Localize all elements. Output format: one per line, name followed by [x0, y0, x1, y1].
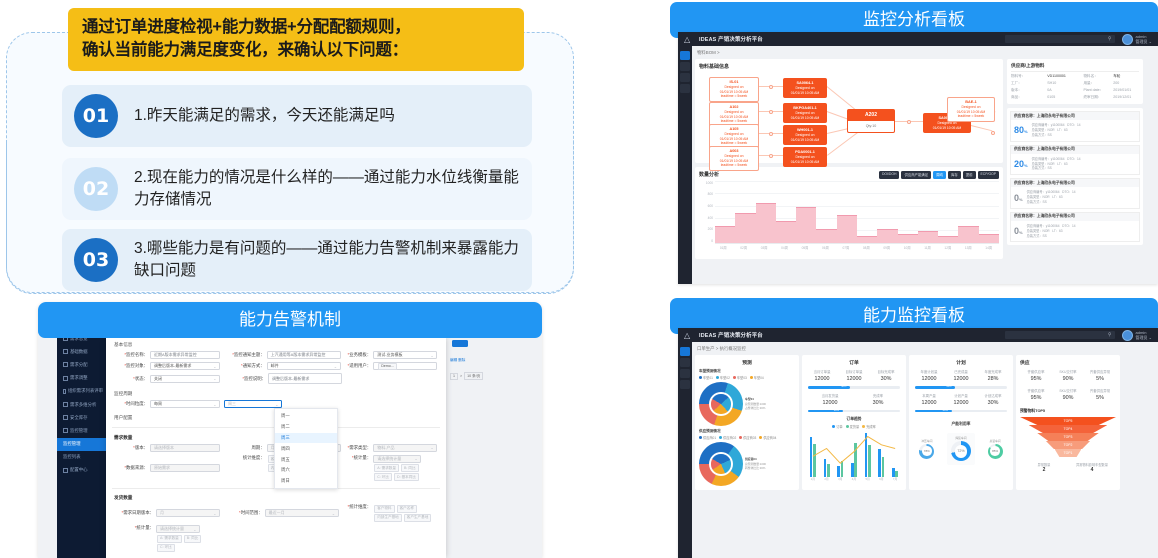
field-status[interactable]: *状态： 关闭⌄: [112, 373, 224, 384]
dropdown-option-3[interactable]: 周四: [275, 443, 337, 454]
chip-advance[interactable]: 提前: [963, 171, 976, 179]
supplier-row[interactable]: 供应商名称：上海欣永电子有限公司 0% 供应商编号：y1100064 DTO：1…: [1010, 178, 1140, 209]
bg-primary-button[interactable]: [452, 340, 468, 347]
chevron-down-icon: ⌄: [213, 364, 216, 369]
supplier-percent: 20%: [1014, 159, 1028, 169]
plan-kpi-row-1: 年度计划量12000 已完成量12000 年度完成率28%: [913, 369, 1009, 382]
notify-method-select[interactable]: 邮件⌄: [267, 362, 341, 370]
step-segment: [857, 236, 877, 243]
quantity-analysis-panel: 数量分析 DOI/DOH 供应商产能满足 周均 库存 提前 ECP/GOP: [695, 167, 1003, 259]
order-trend-chart[interactable]: [806, 431, 902, 477]
app-name: IDEAS 产销决策分析平台: [699, 35, 763, 43]
form-row: *监控名称： 近期A版本需求异常监控 *监控通知主题： 上汽通用等A版本需求异常…: [106, 351, 446, 362]
list-badge-03: 03: [74, 238, 118, 282]
step-segment: [756, 203, 776, 242]
sidebar-item-2[interactable]: 需求分配: [57, 358, 106, 371]
field-notify-subject[interactable]: *监控通知主题： 上汽通用等A版本需求异常监控: [223, 351, 342, 359]
gauge-ring-0: 78%: [919, 444, 934, 459]
dropdown-option-6[interactable]: 周日: [275, 476, 337, 487]
supplier-name: 供应商名称：上海欣永电子有限公司: [1011, 179, 1139, 187]
supplier-percent: 80%: [1014, 125, 1028, 135]
field-notify-method[interactable]: *通知方式： 邮件⌄: [223, 362, 342, 370]
field-monitor-desc[interactable]: *监控说明： 调整后版本-最新需求: [224, 373, 344, 384]
supplier-name: 供应商名称：上海欣永电子有限公司: [1011, 112, 1139, 120]
sidebar-icon-box[interactable]: [680, 369, 690, 378]
xaxis-tick: 07周: [842, 245, 849, 250]
sidebar-item-9[interactable]: 监控列表: [57, 451, 106, 464]
form-sidebar[interactable]: 需求总览 基础数据 需求分配 需求调整 组织需求列表评审 需求多维分析 安全库存…: [57, 332, 106, 558]
dropdown-option-1[interactable]: 周二: [275, 422, 337, 433]
list-badge-01: 01: [74, 94, 118, 138]
flow-node-left-outer-0[interactable]: IS-01 Designed on 01/01/19 10:05 AM lead…: [709, 77, 759, 102]
section-ship-qty: 发货数量: [106, 491, 446, 504]
gauge-group: 冲压车间 78% 焊装车间 72% 总装车间 85%: [913, 433, 1009, 465]
xaxis-tick: 6月: [879, 477, 883, 481]
quantity-chart-xaxis: 01周02周03周04周05周06周07周08周09周10周11周12周13周1…: [713, 245, 999, 250]
monitor-config-modal: 基本信息 *监控名称： 近期A版本需求异常监控 *监控通知主题： 上汽通用等A版…: [106, 338, 446, 558]
orders-kpi-row-2: 当月发货量12000 完成率30%: [806, 393, 902, 406]
step-segment: [877, 229, 897, 243]
search-input[interactable]: ⚲: [1005, 35, 1115, 43]
form-background-page: 编辑 删除 1 > 10 条/页: [446, 332, 542, 558]
pagination[interactable]: 1 > 10 条/页: [450, 372, 483, 380]
xaxis-tick: 5月: [865, 477, 869, 481]
supplier-name: 供应商名称：上海欣永电子有限公司: [1011, 146, 1139, 154]
flow-center-qty: Qty:10: [848, 121, 894, 132]
plan-progress-2: 40%: [915, 410, 1007, 413]
field-weekday[interactable]: 周三⌄: [224, 400, 304, 408]
search-icon: ⚲: [1108, 36, 1112, 42]
list-item[interactable]: 01 1.昨天能满足的需求，今天还能满足吗: [62, 85, 532, 147]
avatar[interactable]: [1122, 330, 1133, 341]
chip-supplier-capacity[interactable]: 供应商产能满足: [901, 171, 931, 179]
headline-banner: 通过订单进度检视+能力数据+分配配额规则， 确认当前能力满足度变化，来确认以下问…: [68, 8, 524, 71]
xaxis-tick: 4月: [852, 477, 856, 481]
user-menu[interactable]: admin管理员 ⌄: [1136, 330, 1152, 340]
gauge-title: 产能利用率: [913, 422, 1009, 427]
list-badge-02: 02: [74, 167, 118, 211]
sidebar-item-1[interactable]: 基础数据: [57, 345, 106, 358]
xaxis-tick: 2月: [824, 477, 828, 481]
sidebar-item-6[interactable]: 安全库存: [57, 411, 106, 424]
xaxis-tick: 7月: [893, 477, 897, 481]
bar-chart-xaxis: 1月2月3月4月5月6月7月: [806, 477, 902, 481]
form-row: *需求日期版本： 月⌄ *时间范围： 最近一月⌄ *统计维度：: [106, 504, 446, 525]
flow-panel-title: 物料基础信息: [699, 63, 999, 70]
sidebar-item-7[interactable]: 监控管理: [57, 424, 106, 437]
app-body: 物料BOM > 物料基础信息: [678, 46, 1158, 284]
field-demand-date-version[interactable]: *需求日期版本： 月⌄: [112, 504, 223, 522]
supplier-list-card: 供应商名称：上海欣永电子有限公司 80% 供应商编号：y1100064 DTO：…: [1007, 108, 1143, 245]
supply-column: 供应 齐套供应率95% SKU交付率90% 齐套供应异常5% 齐套供应率95% …: [1016, 355, 1120, 490]
app-header: △ IDEAS 产销决策分析平台 ⚲ admin管理员 ⌄: [678, 328, 1158, 342]
quantity-analysis-title: 数量分析: [699, 171, 719, 178]
funnel-segment[interactable]: TOP1: [1055, 449, 1082, 457]
form-row: *监控对象： 调整后版本-最新需求⌄ *通知方式： 邮件⌄ *适用用户：: [106, 362, 446, 373]
app-main: 物料BOM > 物料基础信息: [692, 46, 1158, 284]
xaxis-tick: 06周: [822, 245, 829, 250]
headline-line-2: 确认当前能力满足度变化，来确认以下问题：: [82, 39, 510, 62]
ship-stat-qty-select[interactable]: 请选择统计量⌄: [156, 525, 200, 533]
supplier-row[interactable]: 供应商名称：上海欣永电子有限公司 20% 供应商编号：y1100064 DTO：…: [1010, 145, 1140, 176]
step-segment: [715, 226, 735, 243]
bar-chart-legend: 订单 发货量 完成率: [806, 424, 902, 429]
orders-column: 订单 当月订单量12000 目标订单量12000 目标完成率30% 46% 当月…: [802, 355, 906, 490]
list-item-text: 1.昨天能满足的需求，今天还能满足吗: [134, 105, 405, 127]
plan-head: 计划: [913, 359, 1009, 366]
sidebar-item-5[interactable]: 需求多维分析: [57, 398, 106, 411]
bar-chart-title: 订单趋势: [806, 417, 902, 422]
supply-footer: 异常数量 2 异常物料影响车型数量 4: [1020, 462, 1116, 473]
data-source-input[interactable]: 原始需求: [150, 464, 220, 472]
xaxis-tick: 08周: [863, 245, 870, 250]
xaxis-tick: 3月: [838, 477, 842, 481]
app-logo-icon: △: [684, 331, 693, 340]
chevron-down-icon: ⌄: [213, 402, 216, 407]
chevron-down-icon: ⌄: [430, 353, 433, 358]
weekday-select[interactable]: 周三⌄: [224, 400, 282, 408]
step-segment: [958, 226, 978, 243]
step-segment: [816, 229, 836, 243]
supplier-row[interactable]: 供应商名称：上海欣永电子有限公司 80% 供应商编号：y1100064 DTO：…: [1010, 111, 1140, 142]
section-basic: 基本信息: [106, 338, 446, 351]
supply-kpi-row-1: 齐套供应率95% SKU交付率90% 齐套供应异常5%: [1020, 369, 1116, 382]
funnel-segment[interactable]: TOP2: [1046, 441, 1090, 449]
xaxis-tick: 13周: [965, 245, 972, 250]
xaxis-tick: 10周: [904, 245, 911, 250]
field-ship-stat-qty[interactable]: *统计量： 请选择统计量⌄ A: 需求数量B: 同比 C: 环比: [122, 525, 234, 552]
supplier-meta: 供应商编号：y1100064 DTO：14 总装类型：NOR LT：63 总装方…: [1027, 224, 1076, 238]
chip-doi-doh[interactable]: DOI/DOH: [879, 171, 900, 179]
xaxis-tick: 12周: [944, 245, 951, 250]
field-data-source[interactable]: *数据来源： 原始需求: [112, 455, 223, 482]
supplier-percent: 0%: [1014, 193, 1023, 203]
field-demand-type[interactable]: *需求类型： 物料-产品⌄: [341, 444, 440, 452]
version-input[interactable]: 请选择版本: [150, 444, 220, 452]
trend-line: [806, 431, 902, 477]
avatar[interactable]: [1122, 34, 1133, 45]
alarm-card-title: 能力告警机制: [38, 302, 542, 338]
chip-ecp-gop[interactable]: ECP/GOP: [978, 171, 999, 179]
sidebar-icon-doc[interactable]: [680, 62, 690, 71]
xaxis-tick: 03周: [761, 245, 768, 250]
chevron-down-icon: ⌄: [275, 402, 278, 407]
search-input[interactable]: ⚲: [1005, 331, 1115, 339]
chevron-down-icon: ⌄: [334, 364, 337, 369]
bom-flow-diagram: IS-01 Designed on 01/01/19 10:05 AM lead…: [699, 73, 999, 169]
field-version[interactable]: *版本： 请选择版本: [112, 444, 223, 452]
flow-center-code: A202: [848, 110, 894, 121]
gauge-item-1[interactable]: 焊装车间 72%: [947, 433, 975, 465]
xaxis-tick: 09周: [883, 245, 890, 250]
xaxis-tick: 01周: [720, 245, 727, 250]
funnel-title: 预警物料TOP5: [1020, 409, 1116, 414]
gauge-ring-2: 85%: [988, 444, 1003, 459]
app-sidebar[interactable]: [678, 46, 692, 284]
xaxis-tick: 11周: [924, 245, 931, 250]
flow-node-left-inner-2[interactable]: WH001-1 Designed on 01/01/19 10:05 AM: [783, 125, 827, 145]
left-column: 通过订单进度检视+能力数据+分配配额规则， 确认当前能力满足度变化，来确认以下问…: [0, 0, 580, 558]
time-range-select[interactable]: 最近一月⌄: [265, 509, 339, 517]
demand-date-version-select[interactable]: 月⌄: [156, 509, 220, 517]
sidebar-icon-box[interactable]: [680, 73, 690, 82]
app-sidebar[interactable]: [678, 342, 692, 558]
stat-qty-select[interactable]: 请选择统计量⌄: [373, 455, 421, 463]
sidebar-item-10[interactable]: 配置中心: [57, 464, 106, 477]
user-menu[interactable]: admin管理员 ⌄: [1136, 34, 1152, 44]
monitor-name-input[interactable]: 近期A版本需求异常监控: [150, 351, 220, 359]
chart-filter-chips[interactable]: DOI/DOH 供应商产能满足 周均 库存 提前 ECP/GOP: [879, 171, 999, 179]
flow-node-right-outer[interactable]: BAE-1 Designed on 01/01/19 10:05 AM lead…: [947, 97, 995, 122]
supplier-meta: 供应商编号：y1100064 DTO：14 总装类型：NOR LT：63 总装方…: [1027, 190, 1076, 204]
list-item[interactable]: 02 2.现在能力的情况是什么样的——通过能力水位线衡量能力存储情况: [62, 158, 532, 220]
notify-subject-input[interactable]: 上汽通用等A版本需求异常监控: [267, 351, 341, 359]
plan-progress-1: 44%: [915, 386, 1007, 389]
step-segment: [898, 234, 918, 243]
app-logo-icon: △: [684, 35, 693, 44]
apply-user-input[interactable]: Demo...: [373, 362, 437, 370]
forecast-head: 预测: [699, 359, 795, 366]
flow-node-left-outer-3[interactable]: A003 Designed on 01/01/19 10:05 AM leadt…: [709, 146, 759, 171]
breadcrumb: 口单生产 > 执行概况监控: [695, 345, 1155, 355]
app-header: △ IDEAS 产销决策分析平台 ⚲ admin管理员 ⌄: [678, 32, 1158, 46]
sidebar-icon-doc[interactable]: [680, 358, 690, 367]
gauge-value: 78%: [922, 446, 932, 456]
gauge-value: 72%: [955, 445, 968, 458]
monitor-analysis-card: 监控分析看板 △ IDEAS 产销决策分析平台 ⚲ admin管理员 ⌄ 物料B…: [670, 2, 1158, 284]
donut2-tooltip: 供应商04 总预测数量:1000 转整体比比:30%: [745, 457, 766, 470]
sidebar-icon-chart[interactable]: [680, 84, 690, 93]
warning-material-funnel[interactable]: TOP5TOP4TOP3TOP2TOP1: [1020, 417, 1116, 457]
supply-head: 供应: [1020, 359, 1116, 366]
alarm-form-screenshot: 需求总览 基础数据 需求分配 需求调整 组织需求列表评审 需求多维分析 安全库存…: [38, 332, 542, 558]
list-item-text: 3.哪些能力是有问题的——通过能力告警机制来暴露能力缺口问题: [134, 238, 532, 282]
step-segment: [837, 215, 857, 243]
gauge-ring-1: 72%: [951, 441, 971, 461]
donut2-title: 供应预测情况: [699, 429, 795, 434]
breadcrumb: 物料BOM >: [695, 49, 1155, 59]
xaxis-tick: 1月: [811, 477, 815, 481]
chevron-down-icon: ⌄: [414, 456, 417, 461]
section-monitor-period: 监控周期: [106, 387, 446, 400]
dropdown-option-5[interactable]: 周六: [275, 465, 337, 476]
donut1-tooltip: 车型04 总预测数量:1000 占整体比比:30%: [745, 397, 766, 410]
app-name: IDEAS 产销决策分析平台: [699, 331, 763, 339]
xaxis-tick: 14周: [985, 245, 992, 250]
gauge-item-2[interactable]: 总装车间 85%: [988, 439, 1003, 460]
orders-kpi-row-1: 当月订单量12000 目标订单量12000 目标完成率30%: [806, 369, 902, 382]
capacity-monitor-screenshot: △ IDEAS 产销决策分析平台 ⚲ admin管理员 ⌄ 口单生产 > 执行概…: [678, 328, 1158, 558]
xaxis-tick: 04周: [781, 245, 788, 250]
chevron-down-icon: ⌄: [332, 511, 335, 516]
dropdown-option-4[interactable]: 周五: [275, 454, 337, 465]
app-main: 口单生产 > 执行概况监控 预测 车型预测情况 车型01 车型02 车型03 车…: [692, 342, 1158, 558]
field-ship-dim[interactable]: *统计维度： 客户物料客户名称 内部生产基地客户生产基地: [341, 504, 440, 522]
monitor-analysis-screenshot: △ IDEAS 产销决策分析平台 ⚲ admin管理员 ⌄ 物料BOM > 物: [678, 32, 1158, 284]
step-segment: [938, 236, 958, 243]
supplier-info-title: 供应商/上游物料: [1011, 63, 1139, 72]
supply-kpi-row-2: 齐套供应率95% SKU交付率90% 齐套供应异常5%: [1020, 388, 1116, 401]
headline-line-1: 通过订单进度检视+能力数据+分配配额规则，: [82, 16, 510, 39]
bg-link-group[interactable]: 编辑 删除: [450, 358, 465, 363]
quantity-chart: 1000 800 600 400 200 0: [699, 181, 999, 244]
biz-template-select[interactable]: 测试-业务模板⌄: [373, 351, 437, 359]
dropdown-option-2-selected[interactable]: 周三: [275, 433, 337, 444]
field-time-grain[interactable]: *时间粒度： 每周⌄: [112, 400, 224, 408]
forecast-column: 预测 车型预测情况 车型01 车型02 车型03 车型04 车型04: [695, 355, 799, 490]
step-segment: [979, 234, 999, 242]
supplier-meta: 供应商编号：y1100064 DTO：14 总装类型：NOR LT：63 总装方…: [1032, 157, 1081, 171]
status-select[interactable]: 关闭⌄: [150, 375, 220, 383]
chip-weekly-avg[interactable]: 周均: [933, 171, 946, 179]
donut-chart-vehicle-forecast[interactable]: [699, 382, 743, 426]
flow-node-left-inner-3[interactable]: PDA0001-1 Designed on 01/01/19 10:05 AM: [783, 147, 827, 167]
funnel-segment[interactable]: TOP3: [1037, 433, 1098, 441]
alarm-mechanism-card: 能力告警机制 需求总览 基础数据 需求分配 需求调整 组织需求列表评审 需求多维…: [38, 302, 542, 558]
chip-inventory[interactable]: 库存: [948, 171, 961, 179]
field-stat-qty[interactable]: *统计量： 请选择统计量⌄ A: 需求数量B: 同比 C: 环比D: 基本同比: [341, 455, 440, 482]
list-item-text: 2.现在能力的情况是什么样的——通过能力水位线衡量能力存储情况: [134, 167, 532, 211]
weekday-dropdown-menu[interactable]: 周一 周二 周三 周四 周五 周六 周日: [274, 408, 338, 489]
donut1-title: 车型预测情况: [699, 369, 795, 374]
field-time-range[interactable]: *时间范围： 最近一月⌄: [223, 504, 342, 522]
step-segment: [776, 221, 796, 243]
capacity-monitor-card: 能力监控看板 △ IDEAS 产销决策分析平台 ⚲ admin管理员 ⌄ 口单生…: [670, 298, 1158, 558]
xaxis-tick: 05周: [802, 245, 809, 250]
supplier-meta: 供应商编号：y1100064 DTO：14 总装类型：NOR LT：63 总装方…: [1032, 123, 1081, 137]
time-grain-select[interactable]: 每周⌄: [150, 400, 220, 408]
supplier-name: 供应商名称：上海欣永电子有限公司: [1011, 213, 1139, 221]
dropdown-option-0[interactable]: 周一: [275, 411, 337, 422]
supplier-info-card: 供应商/上游物料 物料号：VD1100001物料名：车轮 工厂：SH10用量：2…: [1007, 59, 1143, 104]
field-monitor-name[interactable]: *监控名称： 近期A版本需求异常监控: [112, 351, 223, 359]
sidebar-icon-dashboard[interactable]: [680, 51, 690, 60]
list-item[interactable]: 03 3.哪些能力是有问题的——通过能力告警机制来暴露能力缺口问题: [62, 229, 532, 291]
flow-node-center[interactable]: A202 Qty:10: [847, 109, 895, 133]
flow-node-left-inner-0[interactable]: SA0064-1 Designed on 01/01/19 10:05 AM: [783, 78, 827, 98]
chevron-down-icon: ⌄: [193, 527, 196, 532]
orders-head: 订单: [806, 359, 902, 366]
flow-node-left-inner-1[interactable]: BKPGA401-1 Designed on 01/01/19 10:05 AM: [783, 103, 827, 123]
form-row: *统计量： 请选择统计量⌄ A: 需求数量B: 同比 C: 环比: [106, 525, 446, 555]
step-segment: [796, 207, 816, 242]
funnel-segment[interactable]: TOP4: [1029, 425, 1108, 433]
app-body: 口单生产 > 执行概况监控 预测 车型预测情况 车型01 车型02 车型03 车…: [678, 342, 1158, 558]
step-segment: [918, 231, 938, 243]
xaxis-tick: 02周: [740, 245, 747, 250]
step-segment: [735, 213, 755, 243]
monitor-object-select[interactable]: 调整后版本-最新需求⌄: [150, 362, 220, 370]
plan-kpi-row-2: 本周产量12000 计划产量12000 计划达成率30%: [913, 393, 1009, 406]
field-biz-template[interactable]: *业务模板： 测试-业务模板⌄: [341, 351, 440, 359]
sidebar-icon-dashboard[interactable]: [680, 347, 690, 356]
flow-panel: 物料基础信息: [695, 59, 1003, 163]
sidebar-icon-chart[interactable]: [680, 380, 690, 389]
donut1-legend: 车型01 车型02 车型03 车型04: [699, 375, 795, 380]
donut2-legend: 供应商01 供应商02 供应商03 供应商04: [699, 435, 795, 440]
chevron-down-icon: ⌄: [213, 376, 216, 381]
chevron-down-icon: ⌄: [213, 511, 216, 516]
demand-type-select[interactable]: 物料-产品⌄: [373, 444, 437, 452]
funnel-segment[interactable]: TOP5: [1020, 417, 1116, 425]
gauge-item-0[interactable]: 冲压车间 78%: [919, 439, 934, 460]
supplier-row[interactable]: 供应商名称：上海欣永电子有限公司 0% 供应商编号：y1100064 DTO：1…: [1010, 212, 1140, 243]
form-row: *状态： 关闭⌄ *监控说明： 调整后版本-最新需求: [106, 373, 446, 387]
sidebar-item-4[interactable]: 组织需求列表评审: [57, 385, 106, 398]
gauge-value: 85%: [990, 446, 1000, 456]
supplier-percent: 0%: [1014, 226, 1023, 236]
chevron-down-icon: ⌄: [430, 445, 433, 450]
sidebar-item-3[interactable]: 需求调整: [57, 372, 106, 385]
orders-progress-1: 46%: [808, 386, 900, 389]
plan-column: 计划 年度计划量12000 已完成量12000 年度完成率28% 44% 本周产…: [909, 355, 1013, 490]
monitor-desc-textarea[interactable]: 调整后版本-最新需求: [268, 373, 342, 384]
orders-progress-2: 38%: [808, 410, 900, 413]
donut-chart-supplier-forecast[interactable]: [699, 442, 743, 486]
search-icon: ⚲: [1108, 332, 1112, 338]
field-monitor-object[interactable]: *监控对象： 调整后版本-最新需求⌄: [112, 362, 223, 370]
field-apply-user[interactable]: *适用用户： Demo...: [341, 362, 440, 370]
sidebar-item-monitor-mgmt-active[interactable]: 监控管理: [57, 438, 106, 451]
